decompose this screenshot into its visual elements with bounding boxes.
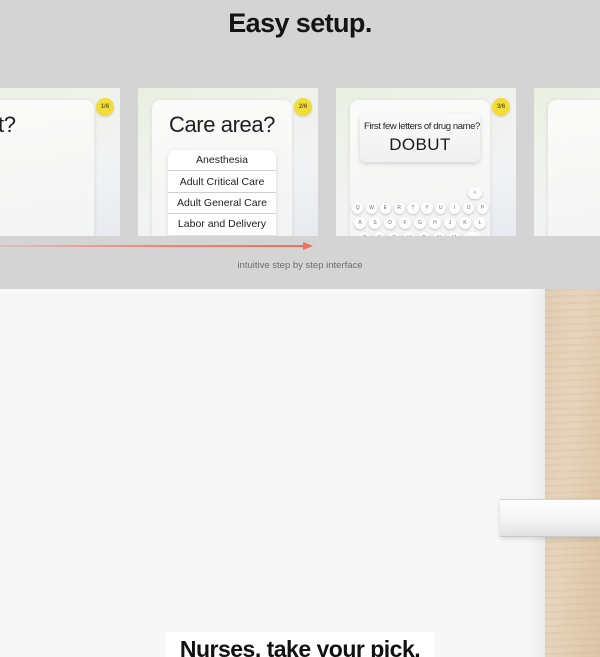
key-q[interactable]: Q	[352, 202, 363, 214]
step-card-4[interactable]: 4/6 DOBUTa yes no	[534, 88, 600, 236]
wall-strip	[529, 289, 545, 657]
key-b[interactable]: B	[418, 232, 430, 236]
key-k[interactable]: K	[459, 217, 471, 229]
key-j[interactable]: J	[444, 217, 456, 229]
arrow-head-icon	[303, 242, 313, 250]
key-t[interactable]: T	[407, 202, 418, 214]
key-d[interactable]: D	[384, 217, 396, 229]
step-question-1: patient?	[0, 112, 48, 138]
key-g[interactable]: G	[414, 217, 426, 229]
key-s[interactable]: S	[369, 217, 381, 229]
section-title-text: Nurses, take your pick.	[166, 632, 434, 657]
key-i[interactable]: I	[449, 202, 460, 214]
key-a[interactable]: A	[354, 217, 366, 229]
care-area-option[interactable]: Anesthesia	[168, 150, 276, 171]
drug-name-value: DOBUT	[364, 135, 476, 155]
key-c[interactable]: C	[388, 232, 400, 236]
keyboard-row-3: Z X C V B N M done	[352, 232, 488, 236]
key-r[interactable]: R	[394, 202, 405, 214]
nurses-pick-section: information appears complex unintuitive …	[0, 289, 600, 657]
keyboard-row-2: A S D F G H J K L	[352, 217, 488, 229]
easy-setup-section: Easy setup. 1/6 patient? yes no 2/6 Care…	[0, 0, 600, 289]
done-button[interactable]: done	[463, 232, 482, 236]
answer-pills-1[interactable]: yes no	[0, 152, 48, 215]
wood-panel-background	[545, 289, 600, 657]
step-badge-1: 1/6	[96, 98, 114, 116]
key-l[interactable]: L	[474, 217, 486, 229]
step-question-2: Care area?	[152, 112, 292, 138]
care-area-option[interactable]: Labor and Delivery	[168, 214, 276, 234]
key-m[interactable]: M	[448, 232, 460, 236]
keyboard-row-1: Q W E R T Y U I O P	[352, 202, 488, 214]
step-badge-2: 2/6	[294, 98, 312, 116]
step-card-2[interactable]: 2/6 Care area? Anesthesia Adult Critical…	[138, 88, 318, 236]
backspace-icon[interactable]: <	[468, 187, 482, 199]
key-n[interactable]: N	[433, 232, 445, 236]
progress-arrow	[0, 241, 600, 251]
key-x[interactable]: X	[373, 232, 385, 236]
care-area-list[interactable]: Anesthesia Adult Critical Care Adult Gen…	[168, 150, 276, 235]
drug-name-entry[interactable]: First few letters of drug name? DOBUT	[360, 114, 480, 162]
key-h[interactable]: H	[429, 217, 441, 229]
answer-pills-4[interactable]: yes no	[594, 152, 600, 215]
step-question-3: First few letters of drug name?	[364, 119, 476, 132]
step-badge-3: 3/6	[492, 98, 510, 116]
step-card-3[interactable]: 3/6 First few letters of drug name? DOBU…	[336, 88, 516, 236]
key-z[interactable]: Z	[358, 232, 370, 236]
step-card-1[interactable]: 1/6 patient? yes no	[0, 88, 120, 236]
key-v[interactable]: V	[403, 232, 415, 236]
care-area-option[interactable]: Adult Critical Care	[168, 171, 276, 192]
key-o[interactable]: O	[463, 202, 474, 214]
step-card-carousel[interactable]: 1/6 patient? yes no 2/6 Care area? Anest…	[0, 88, 600, 236]
key-w[interactable]: W	[366, 202, 377, 214]
key-e[interactable]: E	[380, 202, 391, 214]
key-y[interactable]: Y	[421, 202, 432, 214]
carousel-caption: intuitive step by step interface	[0, 260, 600, 271]
onscreen-keyboard[interactable]: < Q W E R T Y U I O P A	[352, 187, 488, 236]
wall-rail	[500, 499, 600, 537]
step-question-4: DOBUTa	[594, 112, 600, 138]
care-area-option[interactable]: Adult General Care	[168, 193, 276, 214]
key-p[interactable]: P	[477, 202, 488, 214]
section-title-nurses: Nurses, take your pick.	[0, 632, 600, 657]
arrow-line	[0, 245, 305, 247]
page-title-easy-setup: Easy setup.	[0, 8, 600, 39]
key-f[interactable]: F	[399, 217, 411, 229]
key-u[interactable]: U	[435, 202, 446, 214]
